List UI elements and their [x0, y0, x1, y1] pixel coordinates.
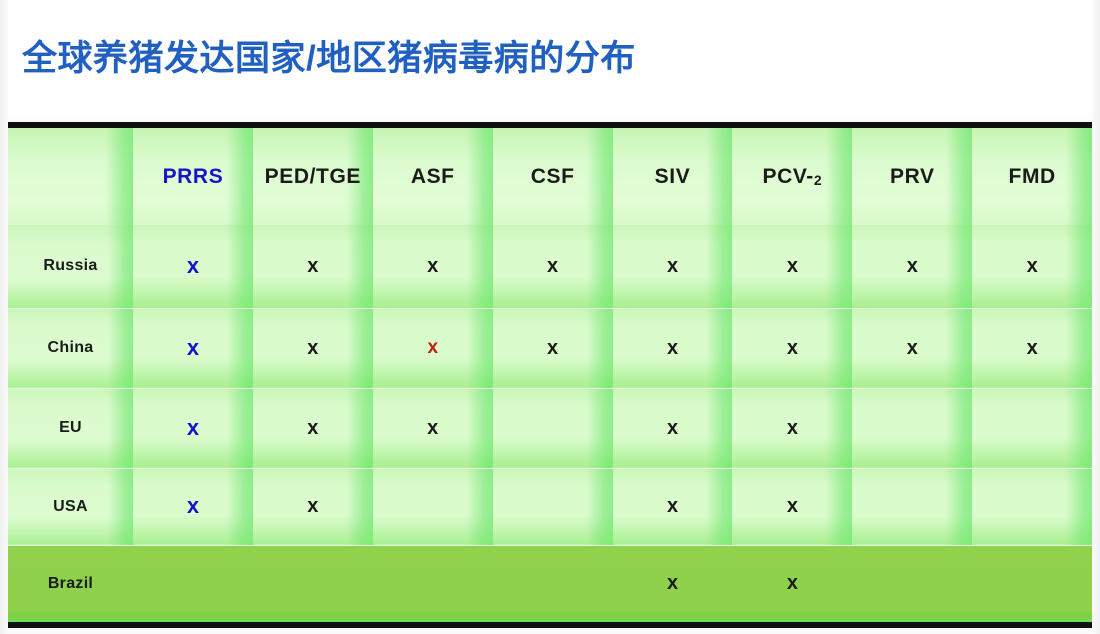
cell-china-asf[interactable]: x [373, 308, 493, 388]
presence-mark: x [787, 418, 798, 438]
presence-mark: x [787, 256, 798, 276]
slide-bottom-edge [0, 628, 1100, 634]
presence-mark: x [907, 256, 918, 276]
presence-mark: x [907, 338, 918, 358]
presence-mark: x [307, 256, 318, 276]
presence-mark: x [787, 573, 798, 593]
column-header-csf[interactable]: CSF [493, 128, 613, 225]
table-header: PRRSPED/TGEASFCSFSIVPCV-2PRVFMD [8, 128, 1092, 225]
table-row: Chinaxxxxxxxx [8, 308, 1092, 388]
column-header-label: PRRS [163, 165, 224, 188]
presence-mark: x [1027, 256, 1038, 276]
column-header-ped_tge[interactable]: PED/TGE [253, 128, 373, 225]
cell-russia-fmd[interactable]: x [972, 225, 1092, 308]
column-header-label: CSF [531, 165, 575, 188]
presence-mark: x [307, 418, 318, 438]
cell-china-pcv2[interactable]: x [732, 308, 852, 388]
presence-mark: x [667, 496, 678, 516]
presence-mark: x [187, 495, 199, 517]
presence-mark: x [307, 496, 318, 516]
cell-usa-prv[interactable] [852, 468, 972, 545]
presence-mark: x [667, 338, 678, 358]
cell-usa-pcv2[interactable]: x [732, 468, 852, 545]
cell-china-siv[interactable]: x [613, 308, 733, 388]
cell-eu-asf[interactable]: x [373, 388, 493, 468]
table-row: EUxxxxx [8, 388, 1092, 468]
presence-mark: x [187, 337, 199, 359]
cell-brazil-pcv2[interactable]: x [732, 545, 852, 622]
row-header-usa[interactable]: USA [8, 468, 133, 545]
column-header-prrs[interactable]: PRRS [133, 128, 253, 225]
column-header-siv[interactable]: SIV [613, 128, 733, 225]
presence-mark: x [427, 256, 438, 276]
column-header-label: SIV [655, 165, 691, 188]
column-header-label: ASF [411, 165, 455, 188]
cell-russia-asf[interactable]: x [373, 225, 493, 308]
table-corner-cell [8, 128, 133, 225]
column-header-label: PED/TGE [265, 165, 361, 188]
cell-china-prrs[interactable]: x [133, 308, 253, 388]
presence-mark: x [187, 417, 199, 439]
cell-eu-siv[interactable]: x [613, 388, 733, 468]
table-row: USAxxxx [8, 468, 1092, 545]
cell-brazil-fmd[interactable] [972, 545, 1092, 622]
cell-eu-prv[interactable] [852, 388, 972, 468]
column-header-pcv2[interactable]: PCV-2 [732, 128, 852, 225]
cell-china-fmd[interactable]: x [972, 308, 1092, 388]
cell-usa-asf[interactable] [373, 468, 493, 545]
row-header-china[interactable]: China [8, 308, 133, 388]
disease-distribution-table: PRRSPED/TGEASFCSFSIVPCV-2PRVFMD Russiaxx… [8, 122, 1092, 628]
presence-mark: x [547, 338, 558, 358]
cell-eu-pcv2[interactable]: x [732, 388, 852, 468]
table-row: Russiaxxxxxxxx [8, 225, 1092, 308]
title-bar: 全球养猪发达国家/地区猪病毒病的分布 [0, 0, 1100, 118]
presence-mark: x [787, 338, 798, 358]
matrix-table: PRRSPED/TGEASFCSFSIVPCV-2PRVFMD Russiaxx… [8, 128, 1092, 622]
column-header-label: PCV-2 [762, 165, 822, 188]
presence-mark: x [427, 338, 438, 357]
cell-eu-csf[interactable] [493, 388, 613, 468]
row-header-russia[interactable]: Russia [8, 225, 133, 308]
cell-usa-csf[interactable] [493, 468, 613, 545]
column-header-prv[interactable]: PRV [852, 128, 972, 225]
cell-brazil-siv[interactable]: x [613, 545, 733, 622]
presence-mark: x [1027, 338, 1038, 358]
cell-china-ped_tge[interactable]: x [253, 308, 373, 388]
cell-usa-prrs[interactable]: x [133, 468, 253, 545]
cell-usa-siv[interactable]: x [613, 468, 733, 545]
cell-brazil-csf[interactable] [493, 545, 613, 622]
column-header-label: FMD [1009, 165, 1056, 188]
presence-mark: x [667, 256, 678, 276]
presence-mark: x [187, 255, 199, 277]
cell-russia-ped_tge[interactable]: x [253, 225, 373, 308]
presence-mark: x [667, 418, 678, 438]
cell-china-csf[interactable]: x [493, 308, 613, 388]
page-title: 全球养猪发达国家/地区猪病毒病的分布 [22, 40, 636, 79]
presence-mark: x [427, 418, 438, 438]
presence-mark: x [667, 573, 678, 593]
cell-brazil-prrs[interactable] [133, 545, 253, 622]
presence-mark: x [307, 338, 318, 358]
cell-eu-prrs[interactable]: x [133, 388, 253, 468]
cell-brazil-asf[interactable] [373, 545, 493, 622]
cell-brazil-prv[interactable] [852, 545, 972, 622]
table-body: RussiaxxxxxxxxChinaxxxxxxxxEUxxxxxUSAxxx… [8, 225, 1092, 622]
cell-eu-fmd[interactable] [972, 388, 1092, 468]
column-header-fmd[interactable]: FMD [972, 128, 1092, 225]
column-header-asf[interactable]: ASF [373, 128, 493, 225]
header-row: PRRSPED/TGEASFCSFSIVPCV-2PRVFMD [8, 128, 1092, 225]
cell-russia-csf[interactable]: x [493, 225, 613, 308]
cell-russia-pcv2[interactable]: x [732, 225, 852, 308]
cell-china-prv[interactable]: x [852, 308, 972, 388]
column-header-label: PRV [890, 165, 935, 188]
cell-russia-prv[interactable]: x [852, 225, 972, 308]
row-header-brazil[interactable]: Brazil [8, 545, 133, 622]
cell-usa-ped_tge[interactable]: x [253, 468, 373, 545]
cell-eu-ped_tge[interactable]: x [253, 388, 373, 468]
cell-usa-fmd[interactable] [972, 468, 1092, 545]
presence-mark: x [547, 256, 558, 276]
row-header-eu[interactable]: EU [8, 388, 133, 468]
slide-canvas: 全球养猪发达国家/地区猪病毒病的分布 PRRSPED/TGEASFCSFSIVP… [0, 0, 1100, 634]
cell-russia-siv[interactable]: x [613, 225, 733, 308]
cell-brazil-ped_tge[interactable] [253, 545, 373, 622]
cell-russia-prrs[interactable]: x [133, 225, 253, 308]
table-row: Brazilxx [8, 545, 1092, 622]
presence-mark: x [787, 496, 798, 516]
